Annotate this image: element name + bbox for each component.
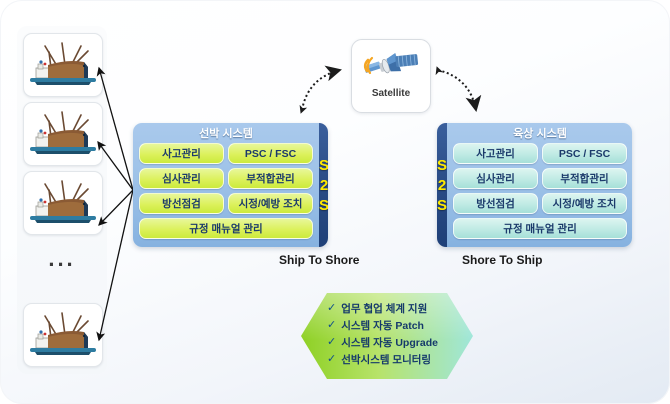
satellite-icon <box>359 44 423 88</box>
satellite-label: Satellite <box>352 88 430 99</box>
s2s-char-1: S <box>319 158 328 173</box>
benefit-item: ✓ 선박시스템 모니터링 <box>327 351 477 368</box>
satellite-node[interactable]: Satellite <box>351 39 431 113</box>
check-icon: ✓ <box>327 354 336 365</box>
ship-fleet-column: ... <box>17 26 107 374</box>
tile-nonconformity-management[interactable]: 부적합관리 <box>542 168 627 189</box>
tile-psc-fsc[interactable]: PSC / FSC <box>228 143 313 164</box>
satellite-link-left-arrow <box>292 60 354 122</box>
tile-psc-fsc[interactable]: PSC / FSC <box>542 143 627 164</box>
s2s-char-2: 2 <box>320 178 328 193</box>
s2s-char-3: S <box>319 198 328 213</box>
tile-corrective-preventive-action[interactable]: 시정/예방 조치 <box>228 193 313 214</box>
tile-nonconformity-management[interactable]: 부적합관리 <box>228 168 313 189</box>
cargo-ship-icon <box>24 103 102 165</box>
shore-panel-title: 육상 시스템 <box>453 127 627 143</box>
benefit-label: 선박시스템 모니터링 <box>341 352 431 367</box>
fleet-ellipsis: ... <box>17 248 107 270</box>
tile-audit-management[interactable]: 심사관리 <box>139 168 224 189</box>
cargo-ship-icon <box>24 304 102 366</box>
cargo-ship-icon <box>24 172 102 234</box>
satellite-link-right-arrow <box>424 60 486 122</box>
shore-system-panel[interactable]: S 2 S 육상 시스템 사고관리 PSC / FSC 심사관리 부적합관리 방… <box>437 123 632 247</box>
tile-onboard-inspection[interactable]: 방선점검 <box>139 193 224 214</box>
s2s-char-1: S <box>437 158 447 173</box>
benefit-label: 업무 협업 체계 지원 <box>341 301 427 316</box>
shore-panel-tile-grid: 사고관리 PSC / FSC 심사관리 부적합관리 방선점검 시정/예방 조치 … <box>453 143 627 239</box>
ship-card[interactable] <box>23 303 103 367</box>
cargo-ship-icon <box>24 34 102 96</box>
tile-onboard-inspection[interactable]: 방선점검 <box>453 193 538 214</box>
tile-accident-management[interactable]: 사고관리 <box>453 143 538 164</box>
label-ship-to-shore: Ship To Shore <box>279 253 359 267</box>
tile-accident-management[interactable]: 사고관리 <box>139 143 224 164</box>
s2s-char-2: 2 <box>438 178 446 193</box>
label-shore-to-ship: Shore To Ship <box>462 253 542 267</box>
tile-audit-management[interactable]: 심사관리 <box>453 168 538 189</box>
ship-card[interactable] <box>23 33 103 97</box>
ship-panel-body: 선박 시스템 사고관리 PSC / FSC 심사관리 부적합관리 방선점검 시정… <box>133 123 319 247</box>
benefit-label: 시스템 자동 Patch <box>341 318 424 333</box>
ship-card[interactable] <box>23 171 103 235</box>
benefit-item: ✓ 시스템 자동 Upgrade <box>327 334 477 351</box>
ship-panel-tile-grid: 사고관리 PSC / FSC 심사관리 부적합관리 방선점검 시정/예방 조치 … <box>139 143 313 239</box>
diagram-canvas: ... <box>0 0 670 404</box>
tile-regulation-manual-management[interactable]: 규정 매뉴얼 관리 <box>453 218 627 239</box>
tile-regulation-manual-management[interactable]: 규정 매뉴얼 관리 <box>139 218 313 239</box>
check-icon: ✓ <box>327 337 336 348</box>
ship-panel-title: 선박 시스템 <box>139 127 313 143</box>
benefit-item: ✓ 시스템 자동 Patch <box>327 317 477 334</box>
tile-corrective-preventive-action[interactable]: 시정/예방 조치 <box>542 193 627 214</box>
benefits-list: ✓ 업무 협업 체계 지원 ✓ 시스템 자동 Patch ✓ 시스템 자동 Up… <box>327 300 477 368</box>
ship-panel-s2s-strip: S 2 S <box>319 123 328 247</box>
check-icon: ✓ <box>327 303 336 314</box>
benefit-item: ✓ 업무 협업 체계 지원 <box>327 300 477 317</box>
ship-system-panel[interactable]: 선박 시스템 사고관리 PSC / FSC 심사관리 부적합관리 방선점검 시정… <box>133 123 328 247</box>
check-icon: ✓ <box>327 320 336 331</box>
shore-panel-body: 육상 시스템 사고관리 PSC / FSC 심사관리 부적합관리 방선점검 시정… <box>447 123 632 247</box>
ship-card[interactable] <box>23 102 103 166</box>
shore-panel-s2s-strip: S 2 S <box>437 123 447 247</box>
s2s-char-3: S <box>437 198 447 213</box>
benefit-label: 시스템 자동 Upgrade <box>341 335 438 350</box>
